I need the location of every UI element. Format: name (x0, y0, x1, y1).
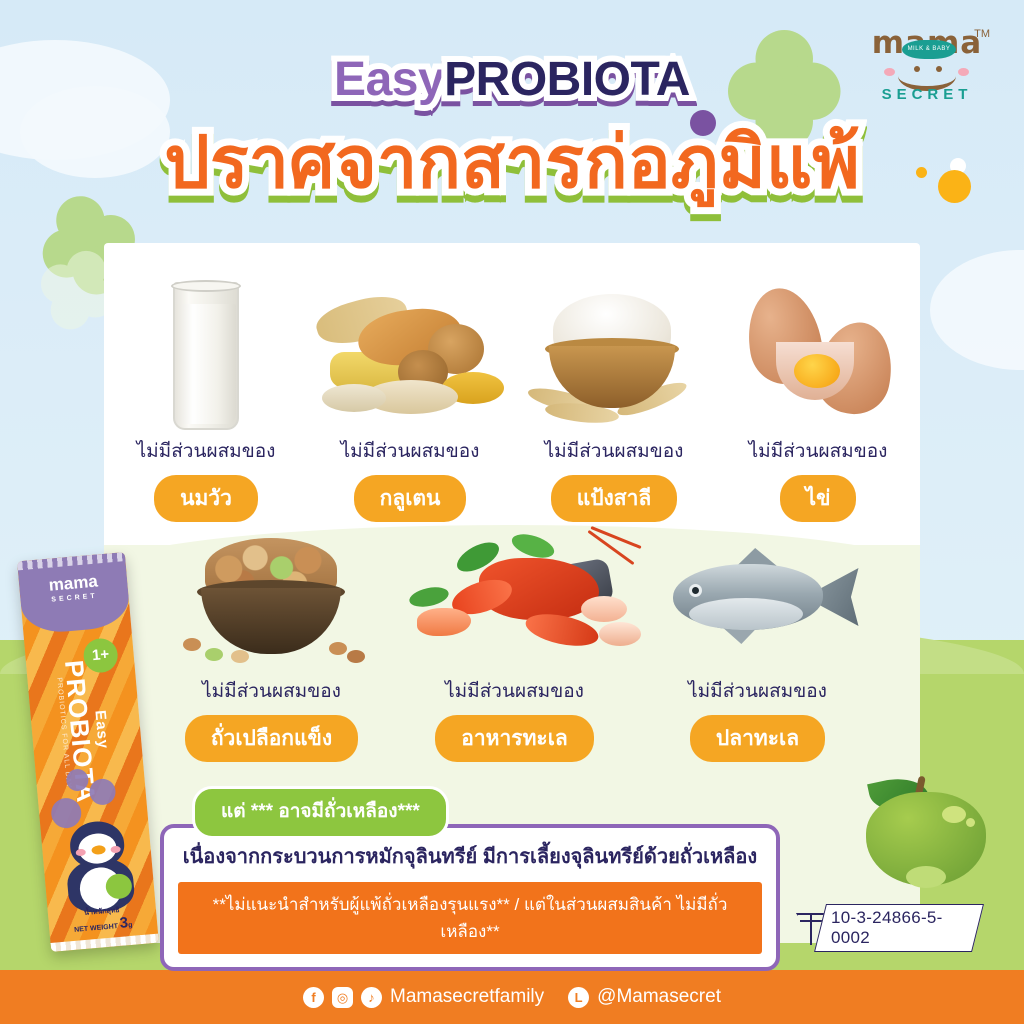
allergen-pill[interactable]: อาหารทะเล (435, 715, 594, 762)
tiktok-icon[interactable]: ♪ (361, 987, 382, 1008)
allergen-caption: ไม่มีส่วนผสมของ (636, 676, 879, 706)
allergen-pill[interactable]: ปลาทะเล (690, 715, 825, 762)
fish-icon (636, 530, 879, 670)
green-apple-icon (860, 770, 992, 886)
allergen-caption: ไม่มีส่วนผสมของ (393, 676, 636, 706)
nuts-bowl-icon (150, 530, 393, 670)
milk-glass-icon (104, 262, 308, 430)
fda-mark: 10-3-24866-5-0002 (796, 908, 978, 948)
line-icon[interactable]: L (568, 987, 589, 1008)
penguin-mascot-icon (56, 818, 142, 916)
allergen-caption: ไม่มีส่วนผสมของ (308, 436, 512, 466)
title-easy-probiota: EasyPROBIOTA (0, 52, 1024, 107)
trademark-symbol: TM (974, 28, 990, 40)
title-probiota-word: PROBIOTA (444, 53, 690, 106)
allergen-item-milk: ไม่มีส่วนผสมของ นมวัว (104, 262, 308, 522)
eggs-icon (716, 262, 920, 430)
grains-bread-icon (308, 262, 512, 430)
social-handle: Mamasecretfamily (390, 986, 544, 1008)
allergen-caption: ไม่มีส่วนผสมของ (150, 676, 393, 706)
allergen-item-sea-fish: ไม่มีส่วนผสมของ ปลาทะเล (636, 530, 879, 762)
footer-content: f ◎ ♪ Mamasecretfamily L @Mamasecret (0, 970, 1024, 1024)
fda-number-plate: 10-3-24866-5-0002 (814, 904, 984, 952)
allergen-pill[interactable]: ถั่วเปลือกแข็ง (185, 715, 358, 762)
allergen-item-gluten: ไม่มีส่วนผสมของ กลูเตน (308, 262, 512, 522)
poster-root: TM mama MILK & BABY SECRET EasyPROBIOTA … (0, 0, 1024, 1024)
allergen-item-wheat-flour: ไม่มีส่วนผสมของ แป้งสาลี (512, 262, 716, 522)
allergen-caption: ไม่มีส่วนผสมของ (716, 436, 920, 466)
soy-note-warning: **ไม่แนะนำสำหรับผู้แพ้ถั่วเหลืองรุนแรง**… (178, 882, 762, 954)
title-easy-word: Easy (334, 53, 444, 106)
allergen-item-egg: ไม่มีส่วนผสมของ ไข่ (716, 262, 920, 522)
net-weight-unit: g (128, 922, 133, 929)
allergen-caption: ไม่มีส่วนผสมของ (512, 436, 716, 466)
soy-note-tab: แต่ *** อาจมีถั่วเหลือง*** (192, 786, 449, 839)
sachet-logo-mama: mama (48, 572, 99, 595)
allergen-item-tree-nuts: ไม่มีส่วนผสมของ ถั่วเปลือกแข็ง (150, 530, 393, 762)
allergen-pill[interactable]: แป้งสาลี (551, 475, 678, 522)
soy-note-main: เนื่องจากกระบวนการหมักจุลินทรีย์ มีการเล… (178, 840, 762, 872)
allergen-item-seafood: ไม่มีส่วนผสมของ อาหารทะเล (393, 530, 636, 762)
facebook-icon[interactable]: f (303, 987, 324, 1008)
allergen-pill[interactable]: กลูเตน (354, 475, 467, 522)
allergen-pill[interactable]: ไข่ (780, 475, 857, 522)
seafood-icon (393, 530, 636, 670)
allergen-caption: ไม่มีส่วนผสมของ (104, 436, 308, 466)
allergen-pill[interactable]: นมวัว (154, 475, 258, 522)
net-weight-en: NET WEIGHT (74, 923, 118, 934)
soy-note-box: เนื่องจากกระบวนการหมักจุลินทรีย์ มีการเล… (160, 824, 780, 971)
headline-thai: ปราศจากสารก่อภูมิแพ้ (0, 118, 1024, 208)
allergen-row-1: ไม่มีส่วนผสมของ นมวัว ไม่มีส่วนผสมของ กล… (104, 262, 920, 522)
instagram-icon[interactable]: ◎ (332, 987, 353, 1008)
flour-bowl-icon (512, 262, 716, 430)
line-handle: @Mamasecret (597, 986, 721, 1008)
allergen-row-2: ไม่มีส่วนผสมของ ถั่วเปลือกแข็ง ไม่มีส่วน… (150, 530, 880, 762)
fda-number: 10-3-24866-5-0002 (831, 908, 963, 948)
